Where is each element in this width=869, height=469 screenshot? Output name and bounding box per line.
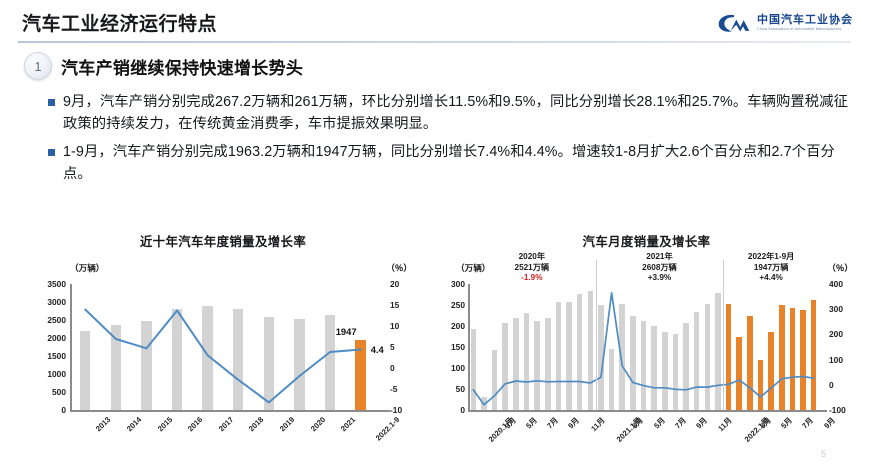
data-label-sales: 1947 <box>336 326 357 337</box>
annotation-line: +3.9% <box>614 273 704 284</box>
page-number: 5 <box>821 449 826 459</box>
annotation-line: 1947万辆 <box>726 263 816 274</box>
list-item: 1-9月，汽车产销分别完成1963.2万辆和1947万辆，同比分别增长7.4%和… <box>48 142 854 185</box>
unit-label-right: （％） <box>386 262 412 274</box>
year-separator <box>723 260 724 410</box>
slide: 汽车工业经济运行特点 中国汽车工业协会 China Association of… <box>0 0 869 469</box>
unit-label-left: （万辆） <box>456 262 490 274</box>
year-annotation: 2021年2608万辆+3.9% <box>614 252 704 284</box>
trend-line <box>434 276 859 436</box>
data-label-growth: 4.4 <box>371 344 384 355</box>
annotation-line: +4.4% <box>726 273 816 284</box>
annotation-line: -1.9% <box>487 273 577 284</box>
chart-title: 近十年汽车年度销量及增长率 <box>18 232 428 250</box>
bullet-text: 9月，汽车产销分别完成267.2万辆和261万辆，环比分别增长11.5%和9.5… <box>63 92 854 135</box>
annotation-line: 2021年 <box>614 252 704 263</box>
chart-title: 汽车月度销量及增长率 <box>434 232 859 250</box>
annotation-line: 2608万辆 <box>614 263 704 274</box>
unit-label-right: （％） <box>827 262 853 274</box>
bullet-marker-icon <box>48 99 55 106</box>
logo-text-cn: 中国汽车工业协会 <box>757 15 853 26</box>
chart-plot-area: 050100150200250300-1000100200300400 2020… <box>434 276 859 436</box>
list-item: 9月，汽车产销分别完成267.2万辆和261万辆，环比分别增长11.5%和9.5… <box>48 92 854 135</box>
association-logo: 中国汽车工业协会 China Association of Automobile… <box>717 8 853 38</box>
section-title: 汽车产销继续保持快速增长势头 <box>61 54 303 79</box>
year-annotation: 2020年2521万辆-1.9% <box>487 252 577 284</box>
chart-plot-area: 0500100015002000250030003500-10-50510152… <box>18 276 428 436</box>
chart-monthly-sales: 汽车月度销量及增长率 （万辆） （％） 050100150200250300-1… <box>434 232 859 464</box>
annotation-line: 2020年 <box>487 252 577 263</box>
year-annotation: 2022年1-9月1947万辆+4.4% <box>726 252 816 284</box>
section-number-badge: 1 <box>24 52 52 80</box>
year-separator <box>596 260 597 410</box>
page-title: 汽车工业经济运行特点 <box>22 9 217 36</box>
bullet-marker-icon <box>48 149 55 156</box>
bullet-text: 1-9月，汽车产销分别完成1963.2万辆和1947万辆，同比分别增长7.4%和… <box>63 142 854 185</box>
header-divider <box>18 41 851 43</box>
logo-text-en: China Association of Automobile Manufact… <box>757 28 853 32</box>
caam-logo-icon <box>717 12 751 34</box>
chart-units: （万辆） （％） <box>18 262 428 276</box>
annotation-line: 2022年1-9月 <box>726 252 816 263</box>
bullet-list: 9月，汽车产销分别完成267.2万辆和261万辆，环比分别增长11.5%和9.5… <box>48 92 854 193</box>
annotation-line: 2521万辆 <box>487 263 577 274</box>
section-heading: 1 汽车产销继续保持快速增长势头 <box>24 52 303 80</box>
chart-annual-sales: 近十年汽车年度销量及增长率 （万辆） （％） 05001000150020002… <box>18 232 428 464</box>
unit-label-left: （万辆） <box>70 262 104 274</box>
trend-line <box>18 276 428 436</box>
